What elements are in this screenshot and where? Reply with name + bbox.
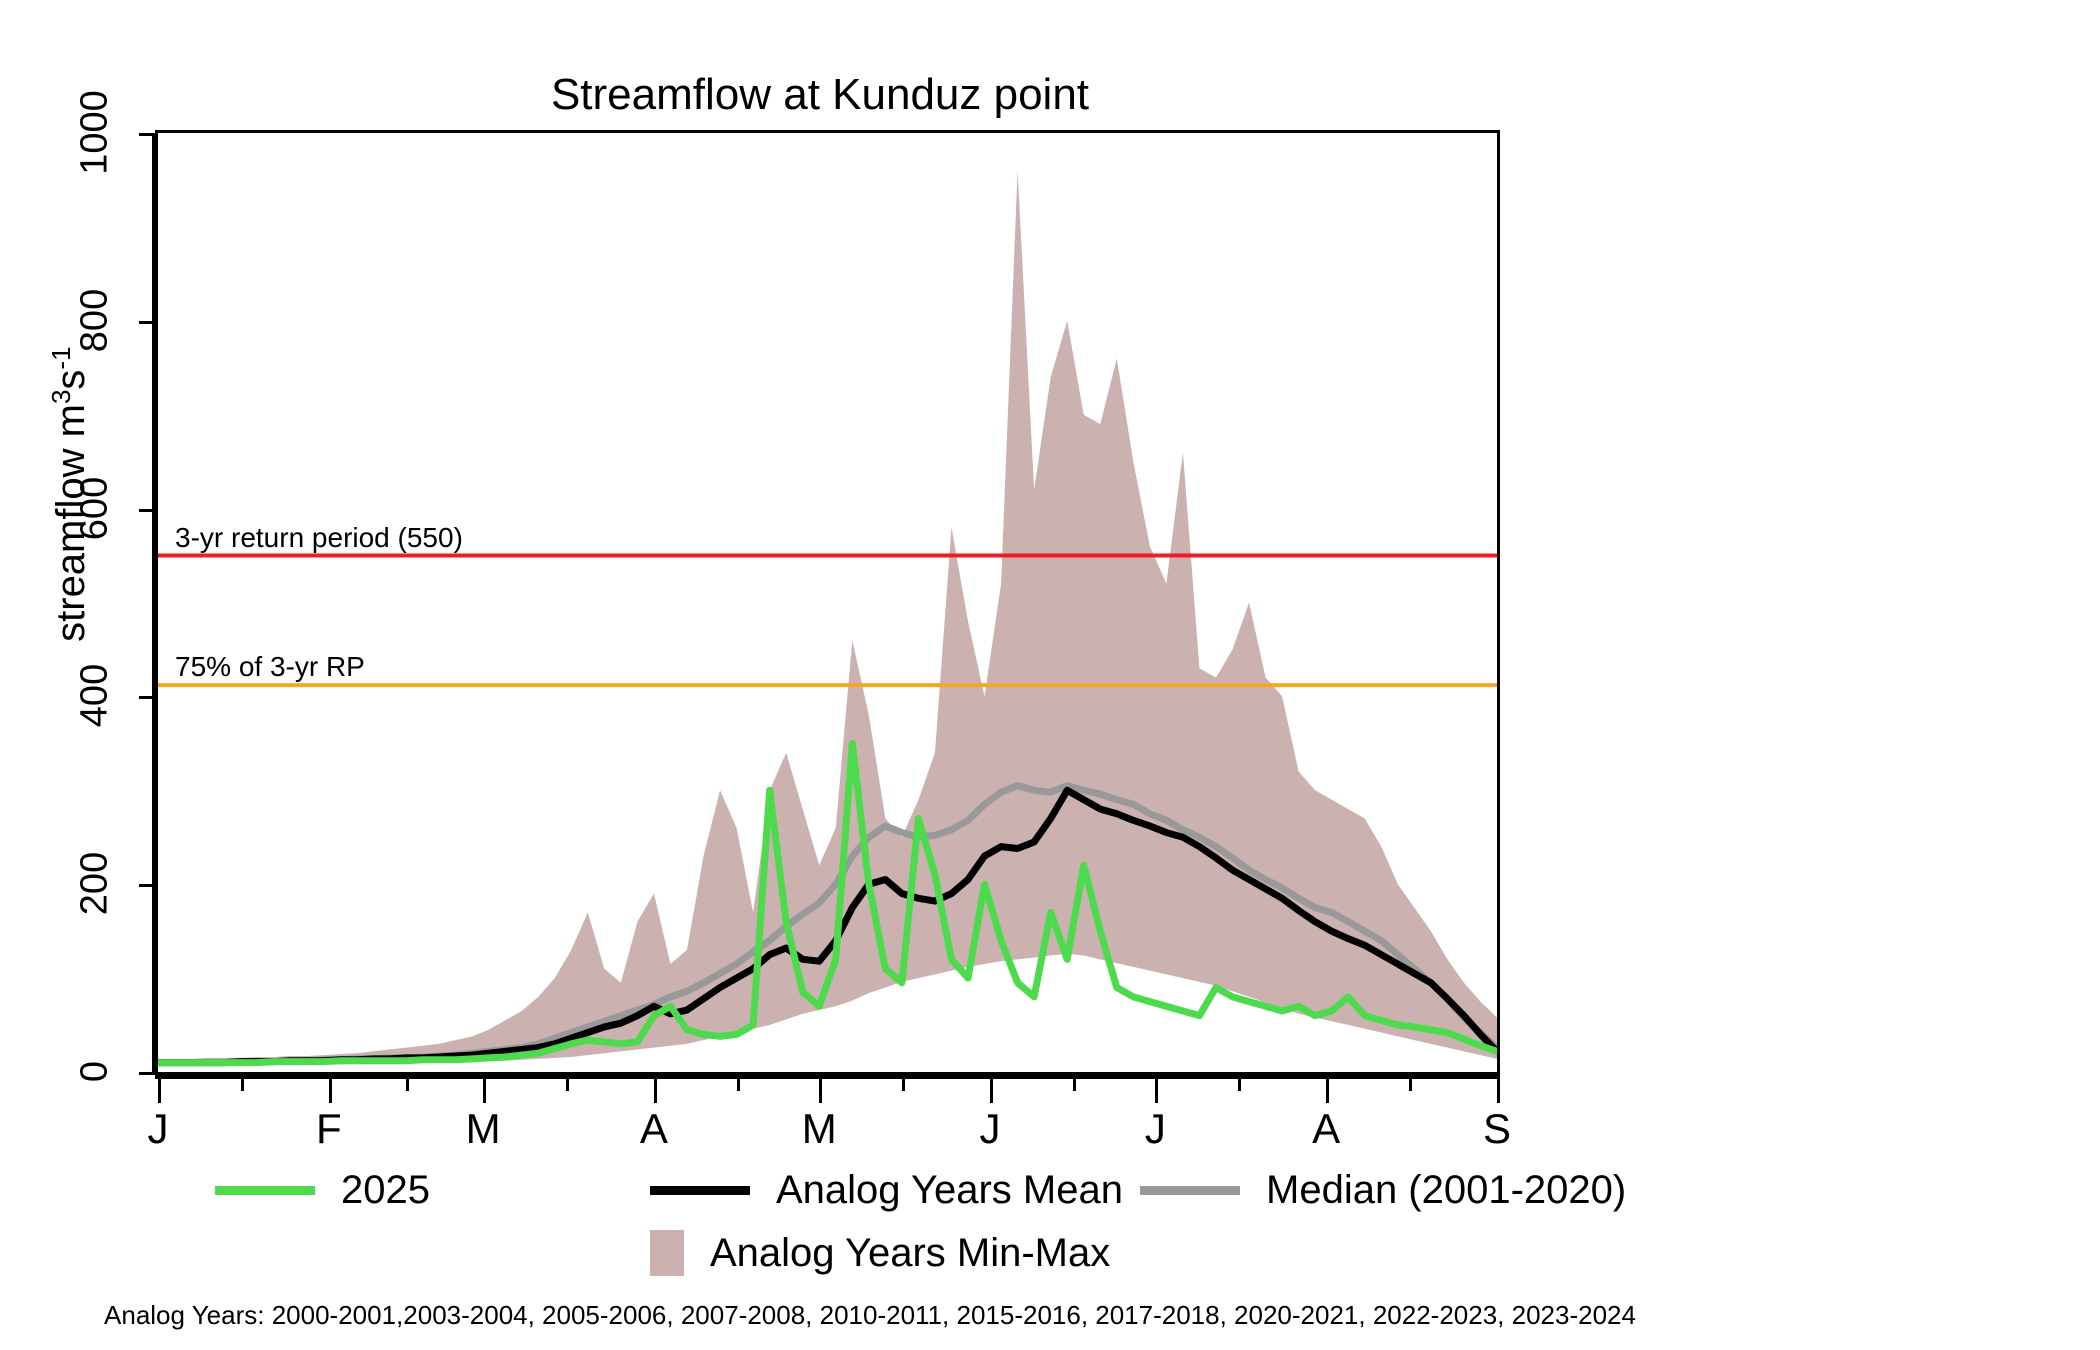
x-tick-major [654, 1075, 657, 1103]
x-tick-label: J [960, 1105, 1020, 1153]
x-tick-major [158, 1075, 161, 1103]
y-tick-label: 800 [74, 250, 117, 390]
threshold-label-1: 75% of 3-yr RP [175, 651, 365, 683]
x-tick-major [990, 1075, 993, 1103]
y-tick-label: 400 [74, 626, 117, 766]
y-tick-label: 600 [74, 438, 117, 578]
x-tick-major [1155, 1075, 1158, 1103]
x-axis-line [155, 1075, 1500, 1079]
analog-years-footnote: Analog Years: 2000-2001,2003-2004, 2005-… [0, 1300, 1740, 1331]
x-tick-label: S [1467, 1105, 1527, 1153]
threshold-label-0: 3-yr return period (550) [175, 522, 463, 554]
y-axis-label-sup1: 3 [46, 390, 76, 404]
y-axis-label-sup2: -1 [46, 346, 76, 369]
x-tick-label: J [1125, 1105, 1185, 1153]
legend-item-analog-years-mean[interactable]: Analog Years Mean [650, 1168, 1123, 1213]
x-tick-major [483, 1075, 486, 1103]
x-tick-major [1497, 1075, 1500, 1103]
legend-item-2025[interactable]: 2025 [215, 1168, 430, 1213]
analog-years-minmax-band [158, 171, 1497, 1066]
y-tick-mark [139, 321, 155, 324]
legend-label: 2025 [341, 1168, 430, 1213]
legend-line-swatch [215, 1186, 315, 1195]
legend-label: Analog Years Mean [776, 1168, 1123, 1213]
legend-area-swatch [650, 1230, 684, 1276]
y-tick-label: 200 [74, 814, 117, 954]
y-tick-label: 1000 [74, 63, 117, 203]
x-tick-label: J [128, 1105, 188, 1153]
x-tick-label: M [453, 1105, 513, 1153]
legend: 2025Analog Years MeanMedian (2001-2020) … [0, 1168, 2100, 1298]
legend-line-swatch [1140, 1186, 1240, 1195]
x-tick-minor [566, 1075, 569, 1091]
page-title: Streamflow at Kunduz point [0, 70, 1640, 120]
y-tick-mark [139, 509, 155, 512]
y-tick-mark [139, 1072, 155, 1075]
x-tick-major [1326, 1075, 1329, 1103]
legend-item-median-2001-2020[interactable]: Median (2001-2020) [1140, 1168, 1626, 1213]
x-tick-minor [241, 1075, 244, 1091]
y-tick-mark [139, 696, 155, 699]
y-tick-mark [139, 884, 155, 887]
x-tick-label: A [1296, 1105, 1356, 1153]
x-tick-minor [1073, 1075, 1076, 1091]
legend-label: Analog Years Min-Max [710, 1231, 1110, 1276]
x-tick-minor [737, 1075, 740, 1091]
x-tick-minor [406, 1075, 409, 1091]
x-tick-major [819, 1075, 822, 1103]
plot-svg [158, 133, 1497, 1072]
legend-item-analog-years-min-max[interactable]: Analog Years Min-Max [650, 1230, 1110, 1276]
chart-page: Streamflow at Kunduz point streamflow m3… [0, 0, 2100, 1350]
x-tick-label: M [789, 1105, 849, 1153]
x-tick-label: A [624, 1105, 684, 1153]
x-tick-minor [1238, 1075, 1241, 1091]
x-tick-minor [902, 1075, 905, 1091]
plot-area [155, 130, 1500, 1075]
y-tick-mark [139, 133, 155, 136]
x-tick-major [329, 1075, 332, 1103]
x-tick-minor [1409, 1075, 1412, 1091]
legend-line-swatch [650, 1186, 750, 1195]
legend-label: Median (2001-2020) [1266, 1168, 1626, 1213]
x-tick-label: F [299, 1105, 359, 1153]
y-tick-label: 0 [74, 1002, 117, 1142]
